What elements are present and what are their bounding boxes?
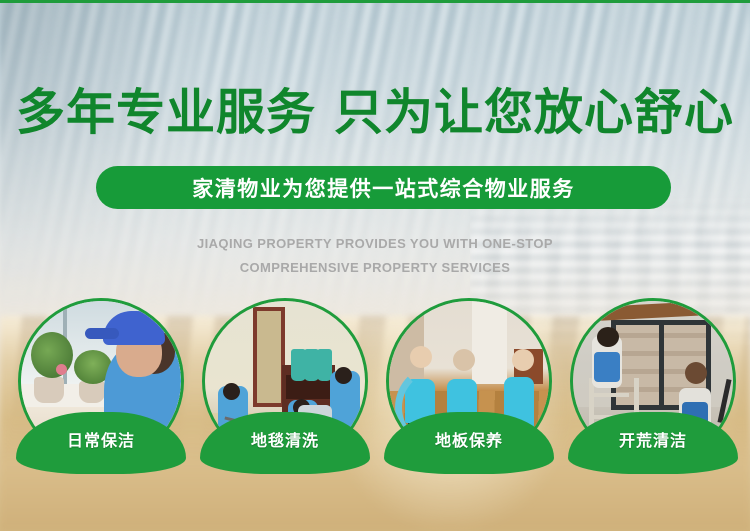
service-label-text: 开荒清洁 xyxy=(619,427,687,451)
page-title: 多年专业服务 只为让您放心舒心 xyxy=(0,84,750,142)
promotional-banner: 多年专业服务 只为让您放心舒心 家清物业为您提供一站式综合物业服务 JIAQIN… xyxy=(0,0,750,531)
tagline-text: 家清物业为您提供一站式综合物业服务 xyxy=(192,173,575,203)
top-green-rule xyxy=(0,0,750,3)
service-item-post-construction-cleaning[interactable]: 开荒清洁 xyxy=(570,298,736,464)
service-label-text: 地毯清洗 xyxy=(251,427,319,451)
service-label-text: 地板保养 xyxy=(435,427,503,451)
service-item-carpet-cleaning[interactable]: 地毯清洗 xyxy=(202,298,368,464)
english-subtitle-line-1: JIAQING PROPERTY PROVIDES YOU WITH ONE-S… xyxy=(0,232,750,256)
service-item-floor-maintenance[interactable]: 地板保养 xyxy=(386,298,552,464)
english-subtitle-line-2: COMPREHENSIVE PROPERTY SERVICES xyxy=(0,256,750,280)
tagline-banner: 家清物业为您提供一站式综合物业服务 xyxy=(96,166,671,209)
service-circles-row: 日常保洁 地毯清洗 xyxy=(0,298,750,498)
service-label-text: 日常保洁 xyxy=(67,427,135,451)
service-item-daily-cleaning[interactable]: 日常保洁 xyxy=(18,298,184,464)
english-subtitle: JIAQING PROPERTY PROVIDES YOU WITH ONE-S… xyxy=(0,232,750,280)
